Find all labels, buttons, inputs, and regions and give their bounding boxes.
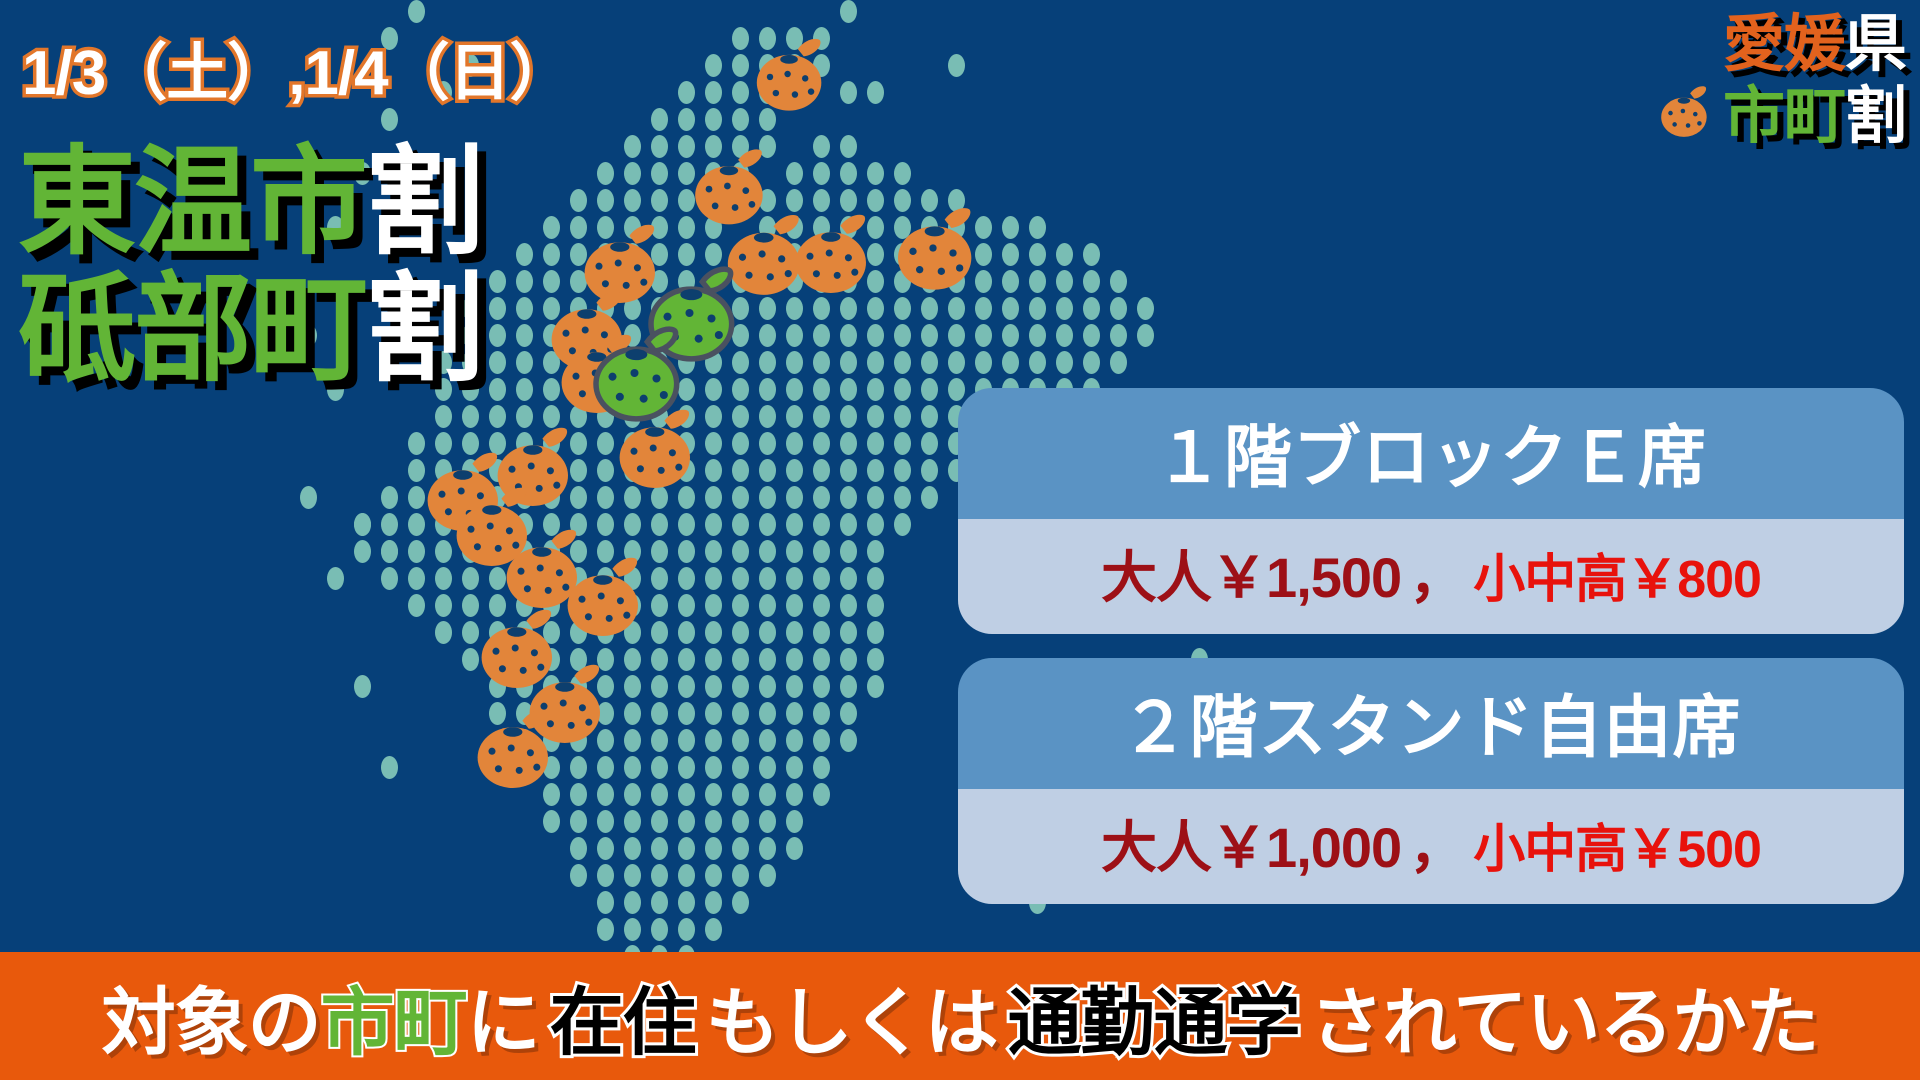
banner-segment-3: に (467, 981, 540, 1064)
logo-prefecture-row: 愛媛県 (1655, 14, 1906, 76)
banner-segment-1: 対象の (102, 981, 321, 1064)
title-line-1-region: 東温市 (18, 137, 366, 269)
highlighted-municipality-marker (585, 318, 695, 428)
logo-program-green: 市町 (1723, 86, 1845, 148)
price-box-second-floor: ２階スタンド自由席 大人￥1,000，小中高￥500 (958, 658, 1904, 904)
eligibility-banner: 対象の市町に在住もしくは通勤通学されているかた (0, 952, 1920, 1080)
mandarin-orange-icon (558, 548, 654, 644)
child-price-second-floor: 小中高￥500 (1473, 821, 1761, 879)
mandarin-orange-icon (748, 30, 836, 118)
price-separator-second-floor: ， (1401, 816, 1473, 879)
price-box-first-floor: １階ブロックＥ席 大人￥1,500，小中高￥800 (958, 388, 1904, 634)
mandarin-orange-icon (786, 205, 882, 301)
eligibility-banner-text: 対象の市町に在住もしくは通勤通学されているかた (102, 963, 1819, 1070)
title-line-2-suffix: 割 (366, 264, 482, 396)
price-row-second-floor: 大人￥1,000，小中高￥500 (958, 789, 1904, 904)
banner-segment-4-residency: 在住 (550, 981, 696, 1064)
logo-program-row: 市町割 (1655, 80, 1906, 153)
adult-price-first-floor: 大人￥1,500 (1101, 546, 1401, 609)
mandarin-orange-icon (888, 198, 988, 298)
logo-prefecture-white: 県 (1845, 10, 1906, 79)
banner-segment-6-commute: 通勤通学 (1008, 981, 1300, 1064)
banner-segment-2-municipality: 市町 (321, 981, 467, 1064)
event-date-text: 1/3（土）,1/4（日） (22, 22, 571, 112)
logo-prefecture-orange: 愛媛 (1723, 10, 1845, 79)
mandarin-orange-icon (1655, 80, 1717, 153)
adult-price-second-floor: 大人￥1,000 (1101, 816, 1401, 879)
title-line-1-suffix: 割 (366, 137, 482, 269)
child-price-first-floor: 小中高￥800 (1473, 551, 1761, 609)
banner-segment-7: されているかた (1310, 981, 1819, 1064)
title-line-2-region: 砥部町 (18, 264, 366, 396)
banner-segment-5: もしくは (706, 981, 998, 1064)
price-row-first-floor: 大人￥1,500，小中高￥800 (958, 519, 1904, 634)
seat-label-first-floor: １階ブロックＥ席 (958, 388, 1904, 519)
title-line-2: 砥部町割 (18, 267, 482, 394)
logo-program-white: 割 (1845, 86, 1906, 148)
title-line-1: 東温市割 (18, 140, 482, 267)
mandarin-orange-icon (468, 700, 564, 796)
price-separator-first-floor: ， (1401, 546, 1473, 609)
ehime-program-logo: 愛媛県 市町割 (1655, 14, 1906, 153)
seat-label-second-floor: ２階スタンド自由席 (958, 658, 1904, 789)
page-title: 東温市割 砥部町割 (18, 140, 482, 395)
